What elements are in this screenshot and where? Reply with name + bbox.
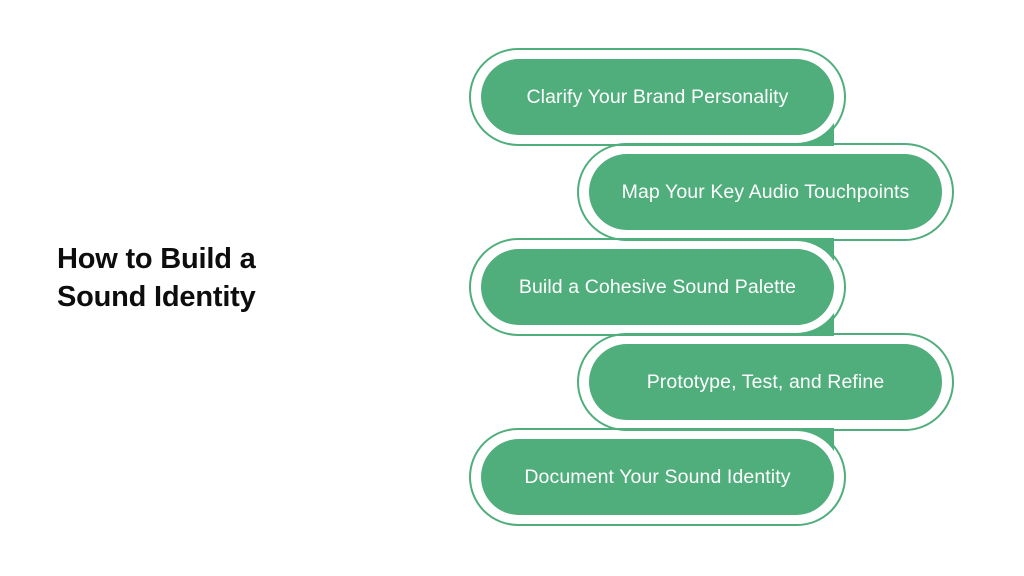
step-3[interactable]: Build a Cohesive Sound Palette (481, 249, 834, 325)
slide-canvas: How to Build a Sound Identity (0, 0, 1024, 576)
step-1[interactable]: Clarify Your Brand Personality (481, 59, 834, 135)
step-label-5: Document Your Sound Identity (524, 466, 790, 488)
process-flow-diagram: Clarify Your Brand Personality Map Your … (0, 0, 1024, 576)
step-4[interactable]: Prototype, Test, and Refine (589, 344, 942, 420)
step-5[interactable]: Document Your Sound Identity (481, 439, 834, 515)
step-label-3: Build a Cohesive Sound Palette (519, 276, 796, 298)
step-label-2: Map Your Key Audio Touchpoints (622, 181, 910, 203)
step-label-1: Clarify Your Brand Personality (526, 86, 788, 108)
step-2[interactable]: Map Your Key Audio Touchpoints (589, 154, 942, 230)
process-flow-svg: Clarify Your Brand Personality Map Your … (0, 0, 1024, 576)
step-label-4: Prototype, Test, and Refine (647, 371, 885, 393)
